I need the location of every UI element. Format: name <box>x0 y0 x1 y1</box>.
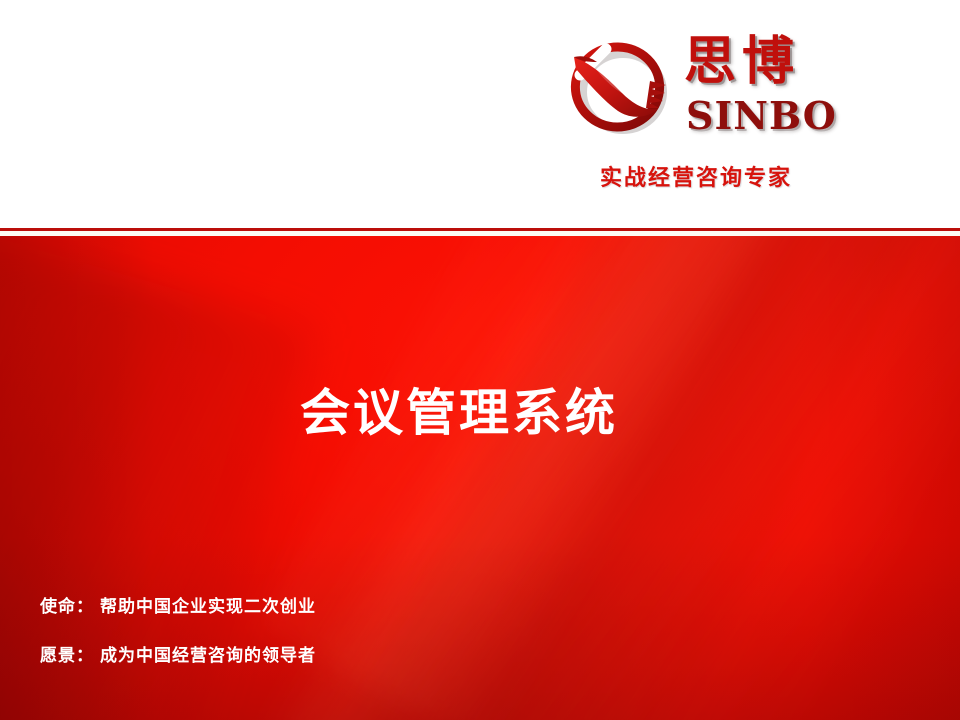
logo-wordmark-en: SINBO <box>686 95 837 137</box>
presentation-slide: 思博 SINBO 实战经营咨询专家 会议管理系统 使命： 帮助中国企业实现二次创… <box>0 0 960 720</box>
phoenix-bird-in-ring-icon <box>566 35 674 139</box>
mission-statement: 使命： 帮助中国企业实现二次创业 <box>40 592 316 617</box>
mission-vision-block: 使命： 帮助中国企业实现二次创业 愿景： 成为中国经营咨询的领导者 <box>40 592 316 666</box>
mission-value: 帮助中国企业实现二次创业 <box>100 592 316 617</box>
background-swoosh-dark-1 <box>312 236 960 720</box>
logo-wordmark-cn: 思博 <box>684 33 800 91</box>
background-swoosh-light-2 <box>274 236 840 720</box>
sinbo-logo: 思博 SINBO <box>566 33 846 145</box>
background-swoosh-light-1 <box>258 236 960 720</box>
mission-label: 使命： <box>40 592 94 617</box>
vision-value: 成为中国经营咨询的领导者 <box>100 641 316 666</box>
page-title: 会议管理系统 <box>300 383 618 443</box>
company-tagline: 实战经营咨询专家 <box>600 160 792 192</box>
slide-header: 思博 SINBO 实战经营咨询专家 <box>0 0 960 229</box>
vision-statement: 愿景： 成为中国经营咨询的领导者 <box>40 641 316 666</box>
vision-label: 愿景： <box>40 641 94 666</box>
